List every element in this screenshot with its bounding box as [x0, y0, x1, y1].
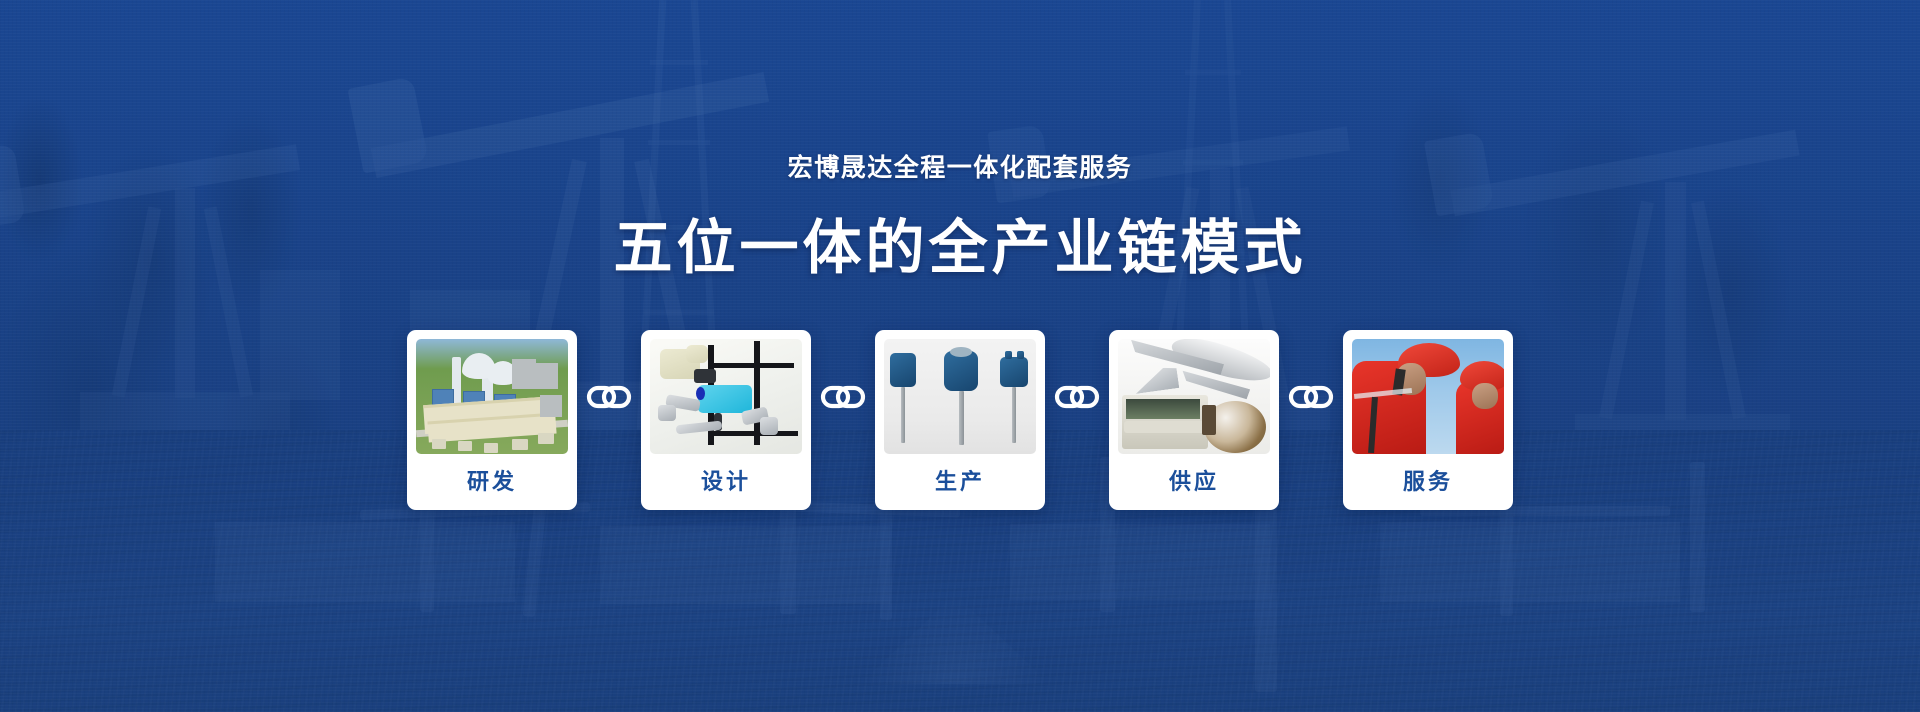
chain-card-label-service: 服务	[1403, 454, 1453, 510]
banner-content: 宏博晟达全程一体化配套服务 五位一体的全产业链模式	[0, 0, 1920, 712]
chain-card-label-production: 生产	[935, 454, 985, 510]
chain-link-icon-2	[811, 330, 875, 463]
chain-card-research[interactable]: 研发	[407, 330, 577, 510]
banner-title: 五位一体的全产业链模式	[0, 200, 1920, 285]
chain-link-icon-3	[1045, 330, 1109, 463]
chain-card-service[interactable]: 服务	[1343, 330, 1513, 510]
chain-card-image-supply	[1118, 339, 1270, 454]
hero-banner: 宏博晟达全程一体化配套服务 五位一体的全产业链模式	[0, 0, 1920, 712]
chain-card-label-supply: 供应	[1169, 454, 1219, 510]
chain-card-image-research	[416, 339, 568, 454]
chain-link-icon-4	[1279, 330, 1343, 463]
chain-card-label-research: 研发	[467, 454, 517, 510]
chain-card-image-production	[884, 339, 1036, 454]
chain-card-image-design	[650, 339, 802, 454]
value-chain-row: 研发	[0, 330, 1920, 510]
chain-card-image-service	[1352, 339, 1504, 454]
chain-card-design[interactable]: 设计	[641, 330, 811, 510]
chain-card-supply[interactable]: 供应	[1109, 330, 1279, 510]
chain-card-production[interactable]: 生产	[875, 330, 1045, 510]
chain-card-label-design: 设计	[701, 454, 751, 510]
chain-link-icon-1	[577, 330, 641, 463]
banner-subtitle: 宏博晟达全程一体化配套服务	[0, 148, 1920, 184]
